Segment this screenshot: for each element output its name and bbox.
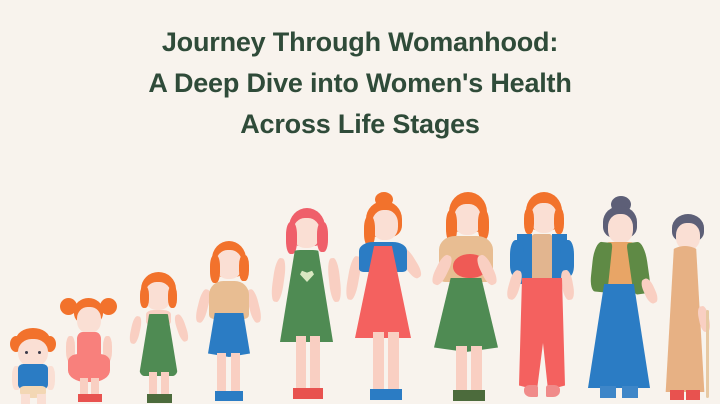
figure-infant bbox=[6, 328, 62, 404]
older-adult-head bbox=[608, 214, 633, 243]
mother-skirt bbox=[434, 278, 498, 352]
midlife-trousers bbox=[517, 278, 567, 390]
young-adult-shoe-right bbox=[386, 389, 402, 400]
figure-young-adult bbox=[342, 192, 426, 404]
mother-shoe-right bbox=[469, 390, 485, 401]
older-adult-skirt bbox=[588, 284, 650, 388]
young-adult-leg-right bbox=[388, 332, 399, 396]
midlife-arm-left bbox=[505, 269, 524, 301]
child-dress bbox=[139, 314, 178, 376]
page-title: Journey Through Womanhood: A Deep Dive i… bbox=[0, 22, 720, 145]
child-hair-side-left bbox=[140, 286, 149, 308]
young-adult-leg-left bbox=[373, 332, 384, 396]
midlife-hair-side-left bbox=[524, 208, 534, 234]
preteen-shoe-right bbox=[229, 391, 243, 401]
mother-head bbox=[454, 204, 481, 235]
toddler-shoe-right bbox=[90, 394, 102, 402]
page-title-line-3: Across Life Stages bbox=[0, 104, 720, 145]
preteen-shoe-left bbox=[215, 391, 229, 401]
figure-child bbox=[124, 272, 192, 404]
midlife-inner-top bbox=[530, 234, 554, 282]
teen-dress bbox=[280, 250, 333, 342]
teen-shoe-left bbox=[293, 388, 308, 399]
child-arm-right bbox=[173, 313, 190, 342]
elder-cane bbox=[706, 310, 709, 398]
elder-shoe-left bbox=[670, 390, 684, 400]
figure-elder bbox=[658, 214, 720, 404]
preteen-hair-side-left bbox=[210, 255, 220, 283]
elder-head bbox=[676, 223, 700, 250]
teen-leg-left bbox=[296, 336, 306, 394]
midlife-shoe-left bbox=[524, 385, 538, 397]
figure-teen bbox=[266, 208, 346, 404]
toddler-dress-skirt bbox=[68, 354, 110, 382]
older-adult-shoe-left bbox=[600, 386, 616, 398]
infant-leg-right bbox=[37, 394, 46, 404]
teen-arm-left bbox=[270, 257, 287, 302]
life-stages-illustration bbox=[0, 174, 720, 404]
infant-eye-left bbox=[25, 351, 28, 354]
preteen-leg-left bbox=[217, 353, 226, 395]
child-shoe-right bbox=[159, 394, 172, 403]
teen-hair-side-left bbox=[286, 222, 297, 254]
toddler-shoe-left bbox=[78, 394, 90, 402]
mother-leg-right bbox=[471, 346, 482, 396]
teen-hair-side-right bbox=[317, 222, 328, 252]
figure-older-adult bbox=[578, 196, 662, 404]
infant-leg-left bbox=[21, 394, 30, 404]
teen-leg-right bbox=[310, 336, 320, 394]
figure-mother bbox=[424, 192, 510, 404]
figure-toddler bbox=[58, 292, 120, 404]
mother-leg-left bbox=[456, 346, 467, 396]
young-adult-head bbox=[372, 210, 398, 240]
page-title-line-2: A Deep Dive into Women's Health bbox=[0, 63, 720, 104]
figure-midlife bbox=[500, 192, 584, 404]
figure-preteen bbox=[190, 241, 266, 404]
young-adult-shoe-left bbox=[370, 389, 386, 400]
midlife-hair-side-right bbox=[554, 208, 564, 234]
midlife-shoe-right bbox=[546, 385, 560, 397]
teen-arm-right bbox=[327, 258, 343, 303]
infant-head bbox=[18, 339, 48, 367]
slide-canvas: Journey Through Womanhood: A Deep Dive i… bbox=[0, 0, 720, 404]
toddler-head bbox=[77, 307, 101, 333]
elder-shoe-right bbox=[686, 390, 700, 400]
preteen-skirt bbox=[208, 313, 250, 357]
mother-shoe-left bbox=[453, 390, 469, 401]
child-hair-side-right bbox=[168, 286, 177, 308]
teen-head bbox=[293, 218, 320, 248]
page-title-line-1: Journey Through Womanhood: bbox=[0, 22, 720, 63]
preteen-leg-right bbox=[231, 353, 240, 395]
teen-shoe-right bbox=[308, 388, 323, 399]
older-adult-shoe-right bbox=[622, 386, 638, 398]
child-arm-left bbox=[128, 315, 143, 344]
preteen-hair-side-right bbox=[239, 255, 249, 281]
infant-eye-right bbox=[38, 351, 41, 354]
